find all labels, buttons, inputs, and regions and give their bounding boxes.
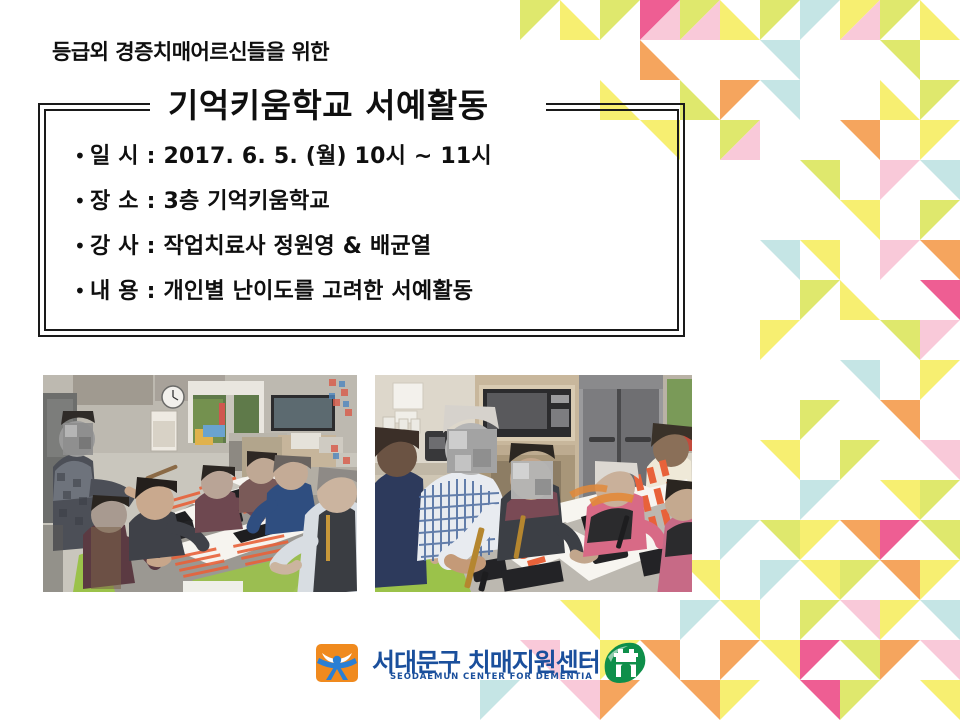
pattern-triangle (920, 480, 960, 520)
pattern-triangle (840, 360, 880, 400)
photo-calligraphy-group (43, 375, 357, 592)
slide-title: 기억키움학교 서예활동 (168, 79, 489, 127)
pattern-triangle (840, 440, 880, 480)
pattern-triangle (880, 640, 920, 680)
pattern-triangle (880, 0, 920, 40)
pattern-triangle (840, 640, 880, 680)
photo-right-illustration (375, 375, 692, 592)
pattern-triangle (720, 640, 760, 680)
pattern-triangle (800, 640, 840, 680)
pattern-triangle (920, 200, 960, 240)
pattern-triangle (760, 320, 800, 360)
independence-gate-icon (604, 641, 648, 685)
pattern-triangle (800, 520, 840, 560)
pattern-triangle (800, 680, 840, 720)
pattern-triangle (560, 0, 600, 40)
pattern-triangle (920, 600, 960, 640)
pattern-triangle (680, 600, 720, 640)
logo-mark-square (316, 644, 358, 682)
pattern-triangle (760, 640, 800, 680)
pattern-triangle (640, 40, 680, 80)
pattern-triangle (640, 0, 680, 40)
pattern-triangle (680, 80, 720, 120)
organization-logo: 서대문구 치매지원센터 SEODAEMUN CENTER FOR DEMENTI… (316, 640, 646, 688)
pattern-triangle (720, 80, 760, 120)
list-item: • 일 시 : 2017. 6. 5. (월) 10시 ~ 11시 (74, 140, 664, 176)
pattern-triangle (720, 120, 760, 160)
detail-datetime: 일 시 : 2017. 6. 5. (월) 10시 ~ 11시 (90, 141, 492, 173)
pattern-triangle (920, 560, 960, 600)
pattern-triangle (760, 240, 800, 280)
slide-subtitle: 등급외 경증치매어르신들을 위한 (52, 36, 329, 66)
pattern-triangle (880, 80, 920, 120)
pattern-triangle (840, 0, 880, 40)
pattern-triangle (880, 560, 920, 600)
pattern-triangle (840, 560, 880, 600)
pattern-triangle (920, 280, 960, 320)
pattern-triangle (800, 480, 840, 520)
pattern-triangle (800, 400, 840, 440)
pattern-triangle (800, 560, 840, 600)
pattern-triangle (560, 600, 600, 640)
pattern-triangle (800, 160, 840, 200)
announcement-slide: 등급외 경증치매어르신들을 위한 기억키움학교 서예활동 • 일 시 : 201… (0, 0, 960, 720)
photo-left-illustration (43, 375, 357, 592)
pattern-triangle (840, 0, 880, 40)
pattern-triangle (840, 200, 880, 240)
pattern-triangle (920, 240, 960, 280)
bullet-icon: • (74, 230, 90, 262)
pattern-triangle (680, 0, 720, 40)
pattern-triangle (680, 680, 720, 720)
pattern-triangle (880, 160, 920, 200)
detail-content: 내 용 : 개인별 난이도를 고려한 서예활동 (90, 276, 473, 308)
pattern-triangle (920, 680, 960, 720)
pattern-triangle (880, 240, 920, 280)
pattern-triangle (920, 0, 960, 40)
bullet-icon: • (74, 185, 90, 217)
pattern-triangle (800, 240, 840, 280)
pattern-triangle (640, 0, 680, 40)
pattern-triangle (920, 440, 960, 480)
pattern-triangle (880, 480, 920, 520)
pattern-triangle (880, 320, 920, 360)
detail-instructor: 강 사 : 작업치료사 정원영 & 배균열 (90, 231, 431, 263)
pattern-triangle (720, 600, 760, 640)
pattern-triangle (920, 80, 960, 120)
pattern-triangle (800, 0, 840, 40)
pattern-triangle (840, 120, 880, 160)
pattern-triangle (920, 360, 960, 400)
pattern-triangle (600, 0, 640, 40)
pattern-triangle (760, 520, 800, 560)
detail-location: 장 소 : 3층 기억키움학교 (90, 186, 330, 218)
logo-name-english: SEODAEMUN CENTER FOR DEMENTIA (390, 672, 593, 682)
details-list: • 일 시 : 2017. 6. 5. (월) 10시 ~ 11시 • 장 소 … (74, 140, 664, 320)
pattern-triangle (720, 0, 760, 40)
pattern-triangle (800, 600, 840, 640)
pattern-triangle (880, 40, 920, 80)
pattern-triangle (760, 440, 800, 480)
pattern-triangle (760, 80, 800, 120)
pattern-triangle (760, 40, 800, 80)
pattern-triangle (840, 280, 880, 320)
list-item: • 내 용 : 개인별 난이도를 고려한 서예활동 (74, 275, 664, 311)
pattern-triangle (920, 160, 960, 200)
pattern-triangle (760, 0, 800, 40)
list-item: • 장 소 : 3층 기억키움학교 (74, 185, 664, 221)
bullet-icon: • (74, 140, 90, 172)
pattern-triangle (520, 0, 560, 40)
pattern-triangle (840, 600, 880, 640)
pattern-triangle (920, 640, 960, 680)
photo-calligraphy-assist (375, 375, 692, 592)
pattern-triangle (720, 120, 760, 160)
pattern-triangle (840, 680, 880, 720)
pattern-triangle (840, 520, 880, 560)
list-item: • 강 사 : 작업치료사 정원영 & 배균열 (74, 230, 664, 266)
pattern-triangle (720, 520, 760, 560)
pattern-triangle (920, 120, 960, 160)
bullet-icon: • (74, 275, 90, 307)
pattern-triangle (920, 320, 960, 360)
pattern-triangle (920, 520, 960, 560)
pattern-triangle (800, 280, 840, 320)
pattern-triangle (880, 520, 920, 560)
pattern-triangle (720, 680, 760, 720)
person-figure-icon (316, 644, 358, 682)
pattern-triangle (680, 0, 720, 40)
pattern-triangle (880, 600, 920, 640)
pattern-triangle (760, 560, 800, 600)
pattern-triangle (880, 400, 920, 440)
